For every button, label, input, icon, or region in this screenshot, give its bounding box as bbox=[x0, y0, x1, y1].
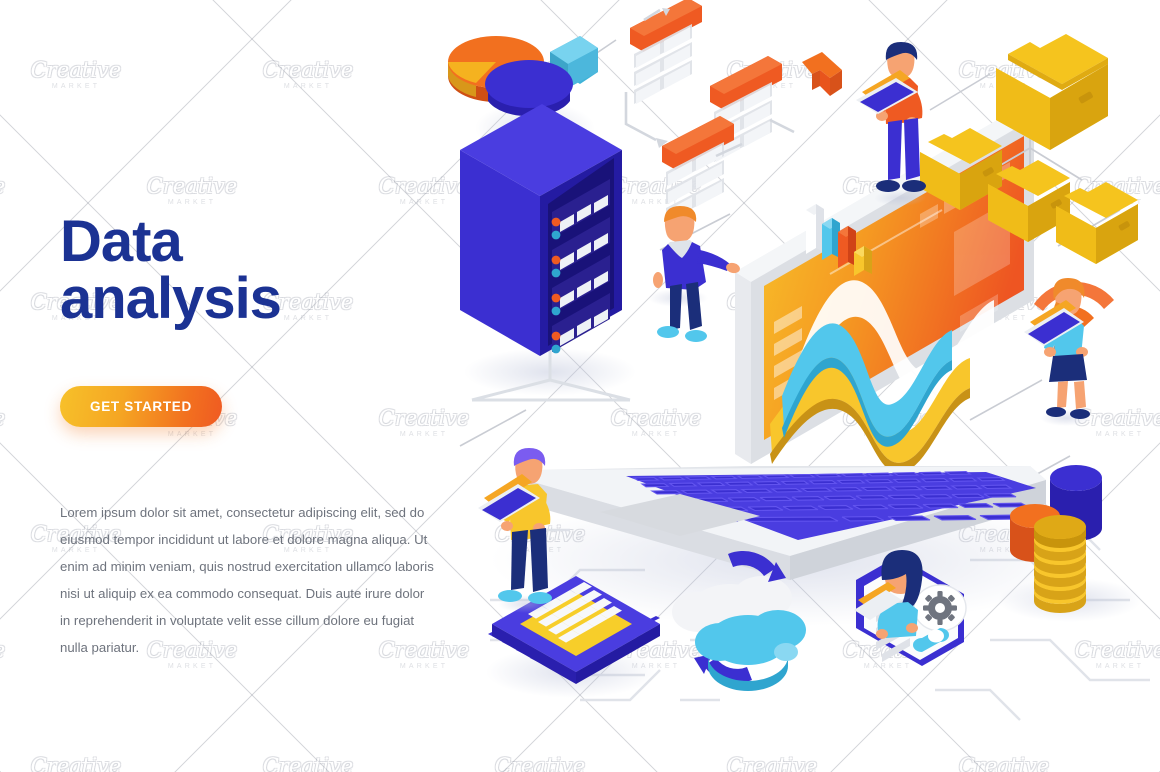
hero-copy: Data analysis GET STARTED Lorem ipsum do… bbox=[60, 214, 440, 661]
headline-line-2: analysis bbox=[60, 266, 281, 331]
isometric-illustration bbox=[430, 0, 1160, 772]
watermark-text: CreativeMARKET bbox=[254, 60, 362, 90]
body-paragraph: Lorem ipsum dolor sit amet, consectetur … bbox=[60, 499, 436, 661]
watermark-text: CreativeMARKET bbox=[0, 176, 14, 206]
gear-icon bbox=[914, 585, 966, 631]
coin-stack-yellow bbox=[1034, 515, 1086, 613]
illustration-canvas: CreativeMARKETCreativeMARKETCreativeMARK… bbox=[0, 0, 1160, 772]
get-started-button[interactable]: GET STARTED bbox=[60, 386, 222, 427]
headline-line-1: Data bbox=[60, 209, 182, 274]
page-title: Data analysis bbox=[60, 214, 440, 328]
watermark-text: CreativeMARKET bbox=[0, 408, 14, 438]
flowchart-tables bbox=[626, 0, 794, 227]
watermark-text: CreativeMARKET bbox=[0, 640, 14, 670]
person-orange-shirt bbox=[856, 42, 926, 206]
person-suit bbox=[648, 206, 741, 342]
watermark-text: CreativeMARKET bbox=[138, 176, 246, 206]
server-rack bbox=[460, 104, 636, 400]
arrow-marker-icon bbox=[802, 52, 842, 96]
watermark-text: CreativeMARKET bbox=[254, 756, 362, 772]
person-woman-laptop bbox=[1024, 278, 1092, 426]
watermark-text: CreativeMARKET bbox=[22, 756, 130, 772]
watermark-text: CreativeMARKET bbox=[22, 60, 130, 90]
